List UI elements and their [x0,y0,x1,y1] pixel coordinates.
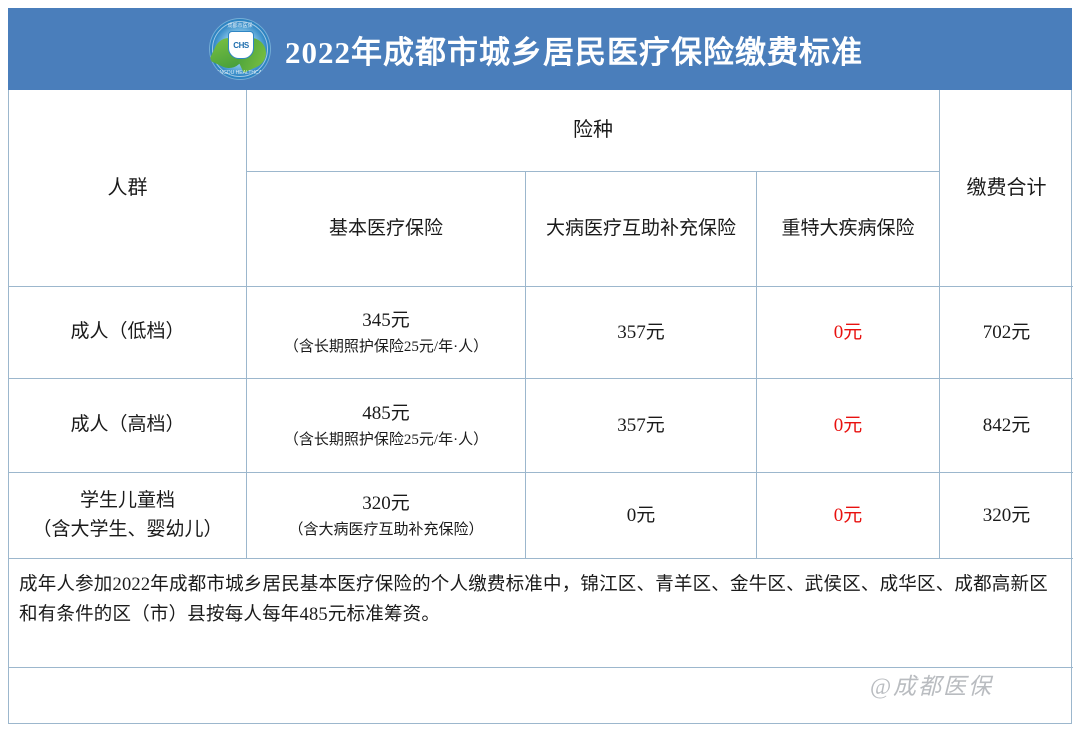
header-basic-insurance: 基本医疗保险 [246,172,525,287]
header-insurance-group: 险种 [246,90,939,172]
row-group-label: 学生儿童档 （含大学生、婴幼儿） [32,487,222,544]
cell-serious-illness: 357元 [525,287,756,379]
header-critical-illness-insurance: 重特大疾病保险 [756,172,939,287]
watermark-label: @成都医保 [870,667,993,701]
cell-basic-amount: 345元 [362,307,410,336]
cell-basic-stack: 485元 （含长期照护保险25元/年·人） [284,400,488,451]
page-title: 2022年成都市城乡居民医疗保险缴费标准 [285,27,863,72]
table-row: 成人（高档） [9,379,246,473]
cell-critical-illness: 0元 [756,473,939,559]
emblem-shield-mark: CHS [233,41,248,50]
cell-basic-insurance: 345元 （含长期照护保险25元/年·人） [246,287,525,379]
row-group-label: 成人（低档） [70,318,184,347]
cell-critical-illness: 0元 [756,379,939,473]
cell-critical-illness: 0元 [756,287,939,379]
footnote-text: 成年人参加2022年成都市城乡居民基本医疗保险的个人缴费标准中，锦江区、青羊区、… [9,559,1073,668]
row-group-line2: （含大学生、婴幼儿） [32,516,222,545]
row-group-label: 成人（高档） [70,411,184,440]
cell-total: 702元 [939,287,1073,379]
cell-basic-note: （含长期照护保险25元/年·人） [284,336,488,359]
poster-page: 成都市医保 CHS CHENGDU HEALTHCARE SECURITY AD… [0,0,1080,732]
chengdu-healthcare-emblem-icon: 成都市医保 CHS CHENGDU HEALTHCARE SECURITY AD… [209,18,271,80]
title-banner-content: 成都市医保 CHS CHENGDU HEALTHCARE SECURITY AD… [209,18,863,80]
header-total: 缴费合计 [939,90,1073,287]
cell-serious-illness: 357元 [525,379,756,473]
cell-basic-insurance: 485元 （含长期照护保险25元/年·人） [246,379,525,473]
cell-basic-note: （含长期照护保险25元/年·人） [284,429,488,452]
cell-total: 320元 [939,473,1073,559]
cell-basic-stack: 345元 （含长期照护保险25元/年·人） [284,307,488,358]
cell-basic-note: （含大病医疗互助补充保险） [288,519,483,542]
cell-basic-stack: 320元 （含大病医疗互助补充保险） [288,490,483,541]
cell-basic-amount: 485元 [362,400,410,429]
emblem-shield: CHS [228,31,254,59]
premium-standards-table: 人群 险种 缴费合计 基本医疗保险 大病医疗互助补充保险 重特大疾病保险 成人（… [8,90,1072,724]
title-banner: 成都市医保 CHS CHENGDU HEALTHCARE SECURITY AD… [8,8,1072,90]
cell-basic-insurance: 320元 （含大病医疗互助补充保险） [246,473,525,559]
header-people: 人群 [9,90,246,287]
cell-serious-illness: 0元 [525,473,756,559]
row-group-line1: 成人（高档） [70,411,184,440]
table-row: 成人（低档） [9,287,246,379]
cell-basic-amount: 320元 [362,490,410,519]
row-group-line1: 成人（低档） [70,318,184,347]
header-serious-illness-insurance: 大病医疗互助补充保险 [525,172,756,287]
table-row: 学生儿童档 （含大学生、婴幼儿） [9,473,246,559]
emblem-arc-bottom-text: CHENGDU HEALTHCARE SECURITY ADMINISTRATI… [209,67,271,79]
cell-total: 842元 [939,379,1073,473]
row-group-line1: 学生儿童档 [80,487,175,516]
